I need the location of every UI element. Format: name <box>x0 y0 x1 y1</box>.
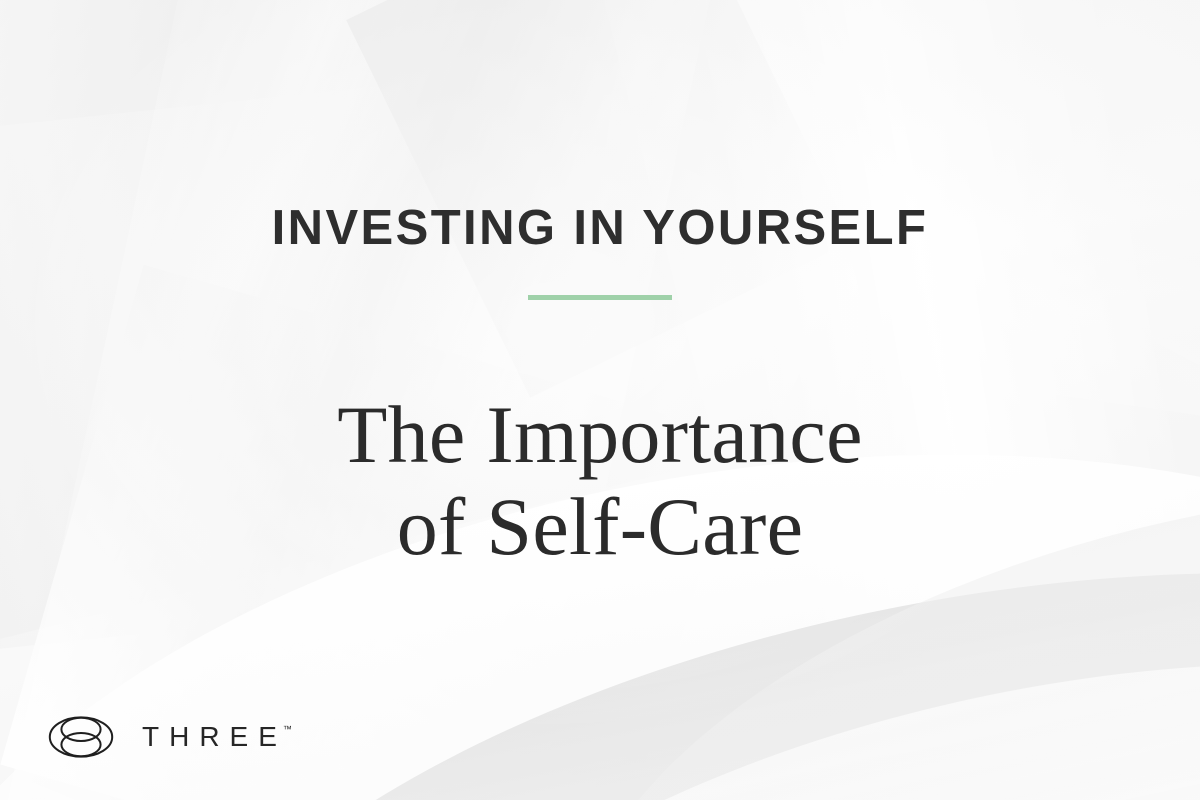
three-logo-icon <box>48 710 114 764</box>
page-title: The Importance of Self-Care <box>0 389 1200 573</box>
slide-content: INVESTING IN YOURSELF The Importance of … <box>0 0 1200 800</box>
page-title-line-2: of Self-Care <box>0 481 1200 573</box>
page-title-line-1: The Importance <box>0 389 1200 481</box>
accent-divider <box>528 295 672 300</box>
brand-wordmark-text: THREE <box>142 723 287 751</box>
brand-wordmark: THREE ™ <box>142 723 292 751</box>
brand-logo-lockup: THREE ™ <box>48 710 292 764</box>
trademark-symbol: ™ <box>283 725 292 734</box>
title-slide: INVESTING IN YOURSELF The Importance of … <box>0 0 1200 800</box>
eyebrow-heading: INVESTING IN YOURSELF <box>0 204 1200 253</box>
